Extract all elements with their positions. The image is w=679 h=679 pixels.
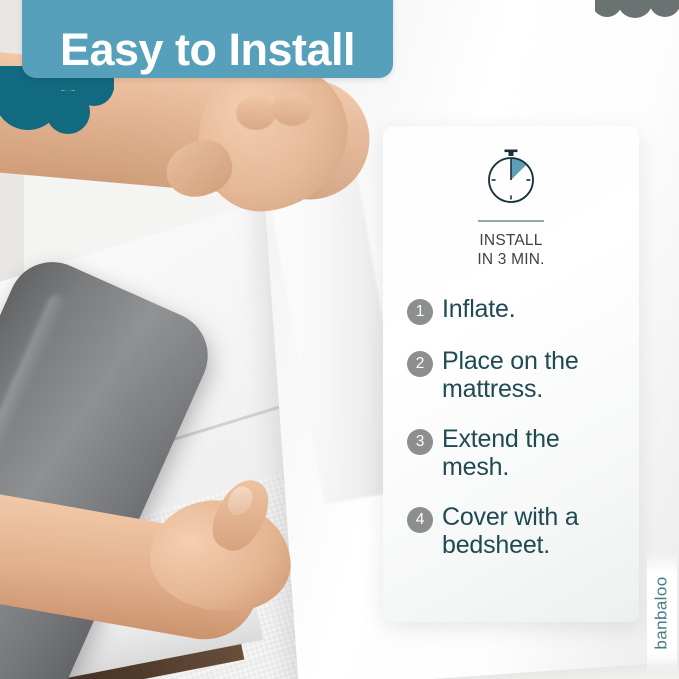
instructions-card: INSTALL IN 3 MIN. 1 Inflate. 2 Place on … (383, 126, 639, 622)
stopwatch-icon (480, 148, 542, 210)
step-number-badge: 1 (407, 299, 433, 325)
step-text: Inflate. (442, 295, 515, 323)
list-item: 1 Inflate. (407, 295, 623, 325)
product-infographic: Easy to Install INSTALL IN 3 MIN. (0, 0, 679, 679)
header-banner: Easy to Install (22, 0, 393, 78)
step-number-badge: 3 (407, 429, 433, 455)
list-item: 2 Place on the mattress. (407, 347, 623, 403)
knuckle (272, 92, 312, 126)
step-number-badge: 2 (407, 351, 433, 377)
banner-title: Easy to Install (60, 27, 355, 72)
knuckle (236, 96, 276, 130)
install-time-badge: INSTALL IN 3 MIN. (399, 148, 623, 269)
brand-logo-text: banbaloo (652, 576, 672, 649)
step-text: Extend the mesh. (442, 425, 623, 481)
step-text: Cover with a bedsheet. (442, 503, 623, 559)
badge-line-1: INSTALL (399, 231, 623, 250)
badge-divider (478, 220, 544, 222)
list-item: 3 Extend the mesh. (407, 425, 623, 481)
badge-line-2: IN 3 MIN. (399, 250, 623, 269)
list-item: 4 Cover with a bedsheet. (407, 503, 623, 559)
step-number-badge: 4 (407, 507, 433, 533)
install-steps-list: 1 Inflate. 2 Place on the mattress. 3 Ex… (399, 295, 623, 559)
step-text: Place on the mattress. (442, 347, 623, 403)
brand-logo: banbaloo (647, 552, 677, 674)
